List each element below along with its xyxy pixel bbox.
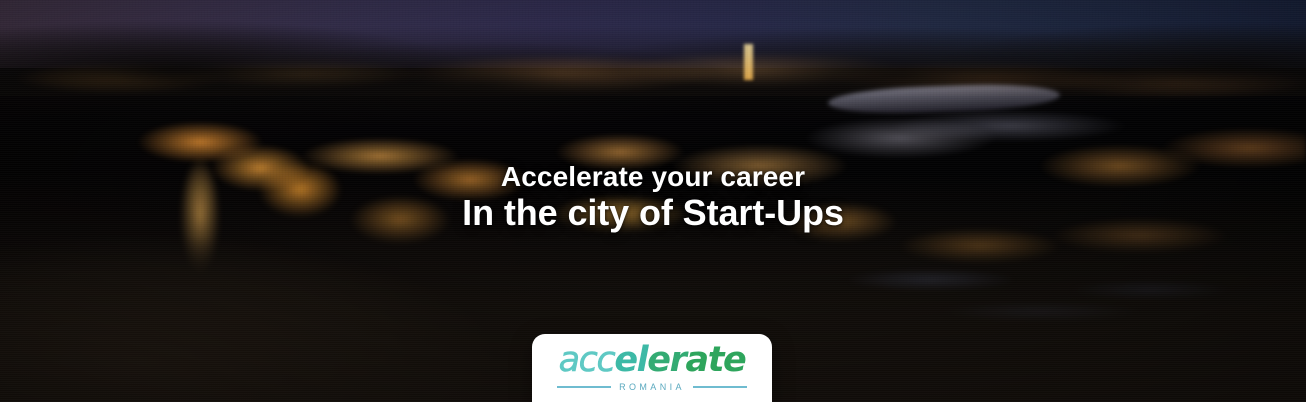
wordmark-segment-er: er (647, 343, 685, 378)
headline-line-1: Accelerate your career (0, 162, 1306, 192)
wordmark-segment-el: el (614, 343, 647, 378)
wordmark-segment-ate: ate (685, 343, 745, 378)
logo-subtitle-row: ROMANIA (557, 382, 747, 392)
divider-rule-right (693, 386, 747, 388)
accelerate-romania-logo-card[interactable]: acc el er ate ROMANIA (532, 334, 772, 402)
divider-rule-left (557, 386, 611, 388)
logo-subtitle-text: ROMANIA (619, 382, 685, 392)
headline-line-2: In the city of Start-Ups (0, 193, 1306, 233)
wordmark-segment-acc: acc (559, 343, 615, 378)
hero-headline: Accelerate your career In the city of St… (0, 162, 1306, 233)
hero-banner: Accelerate your career In the city of St… (0, 0, 1306, 402)
accelerate-wordmark: acc el er ate (559, 343, 746, 378)
